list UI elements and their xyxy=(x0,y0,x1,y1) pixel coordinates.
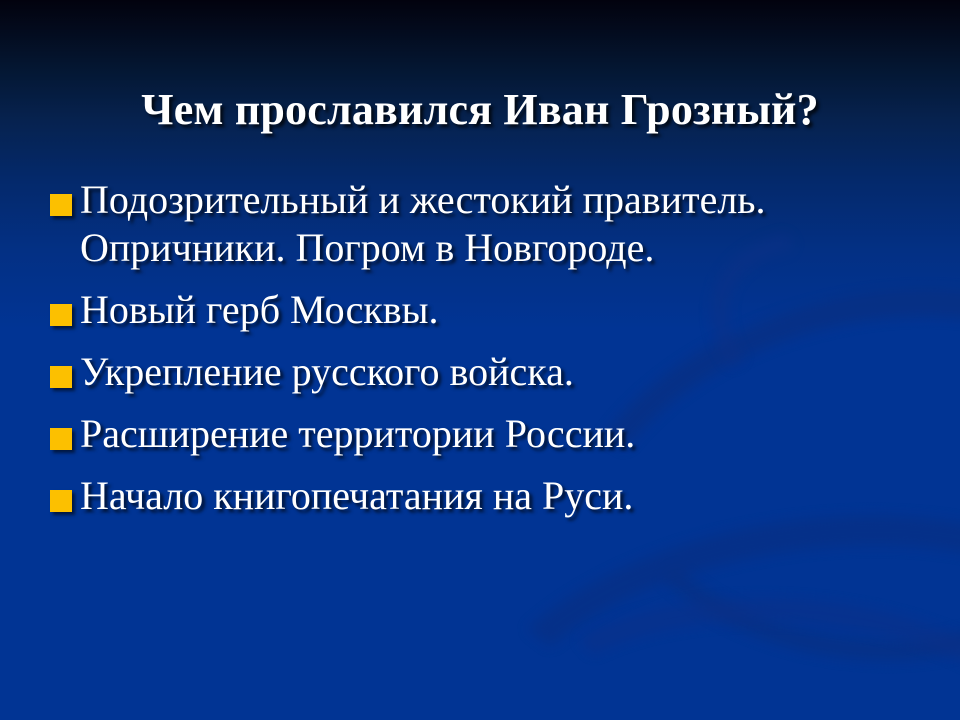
list-item: Расширение территории России. xyxy=(50,410,930,458)
list-item: Укрепление русского войска. xyxy=(50,348,930,396)
bullet-text: Подозрительный и жестокий правитель. Опр… xyxy=(80,176,870,272)
slide-title: Чем прославился Иван Грозный? xyxy=(0,87,960,133)
bullet-text: Новый герб Москвы. xyxy=(80,286,930,334)
bullet-list: Подозрительный и жестокий правитель. Опр… xyxy=(50,176,930,520)
list-item: Подозрительный и жестокий правитель. Опр… xyxy=(50,176,930,272)
square-bullet-icon xyxy=(50,366,72,388)
presentation-slide: Чем прославился Иван Грозный? Подозрител… xyxy=(0,0,960,720)
square-bullet-icon xyxy=(50,194,72,216)
bullet-text: Начало книгопечатания на Руси. xyxy=(80,472,930,520)
slide-content: Чем прославился Иван Грозный? Подозрител… xyxy=(0,0,960,720)
square-bullet-icon xyxy=(50,490,72,512)
bullet-text: Расширение территории России. xyxy=(80,410,930,458)
bullet-text: Укрепление русского войска. xyxy=(80,348,930,396)
list-item: Новый герб Москвы. xyxy=(50,286,930,334)
square-bullet-icon xyxy=(50,304,72,326)
list-item: Начало книгопечатания на Руси. xyxy=(50,472,930,520)
square-bullet-icon xyxy=(50,428,72,450)
